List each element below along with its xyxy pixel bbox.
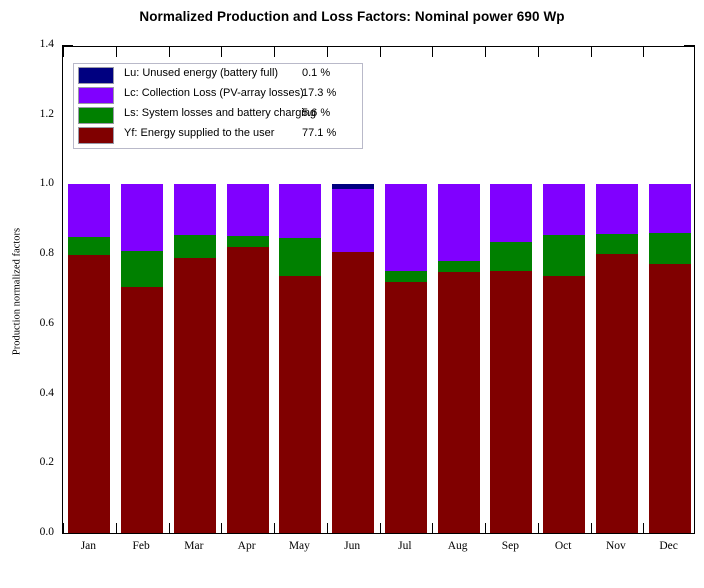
x-tick-top	[116, 47, 117, 57]
x-tick-top	[432, 47, 433, 57]
x-tick	[380, 523, 381, 533]
legend-item[interactable]: Lc: Collection Loss (PV-array losses)17.…	[74, 86, 362, 105]
bar-segment-yf	[332, 252, 374, 533]
bar-segment-ls	[490, 242, 532, 271]
legend-label: Lc: Collection Loss (PV-array losses)	[124, 87, 304, 99]
x-tick-top	[591, 47, 592, 57]
legend-percent: 77.1 %	[302, 127, 336, 139]
y-tick-label: 0.8	[14, 247, 54, 259]
bar-segment-ls	[68, 237, 110, 255]
legend-swatch	[78, 67, 114, 84]
x-tick-top	[327, 47, 328, 57]
x-tick	[591, 523, 592, 533]
bar-segment-yf	[543, 276, 585, 533]
legend-swatch	[78, 127, 114, 144]
bar-jul[interactable]	[385, 45, 427, 533]
y-tick-label: 1.0	[14, 177, 54, 189]
bar-segment-lc	[385, 184, 427, 271]
y-tick-label: 0.6	[14, 317, 54, 329]
bar-aug[interactable]	[438, 45, 480, 533]
bar-segment-lc	[490, 184, 532, 241]
bar-segment-yf	[438, 272, 480, 533]
x-tick	[169, 523, 170, 533]
legend-label: Yf: Energy supplied to the user	[124, 127, 274, 139]
bar-segment-yf	[227, 247, 269, 533]
bar-nov[interactable]	[596, 45, 638, 533]
bar-segment-yf	[649, 264, 691, 533]
x-tick	[432, 523, 433, 533]
y-tick-label: 0.2	[14, 456, 54, 468]
legend-percent: 0.1 %	[302, 67, 330, 79]
bar-segment-lc	[174, 184, 216, 235]
bar-segment-lc	[438, 184, 480, 261]
chart-root: Normalized Production and Loss Factors: …	[0, 0, 704, 588]
legend-item[interactable]: Yf: Energy supplied to the user77.1 %	[74, 126, 362, 145]
bar-segment-ls	[279, 238, 321, 276]
x-tick-label-dec: Dec	[634, 540, 704, 552]
bar-segment-yf	[385, 282, 427, 533]
bar-segment-yf	[279, 276, 321, 533]
legend-swatch	[78, 87, 114, 104]
bar-segment-ls	[227, 236, 269, 248]
legend-item[interactable]: Ls: System losses and battery charging5.…	[74, 106, 362, 125]
x-tick	[643, 523, 644, 533]
x-tick	[221, 523, 222, 533]
x-tick	[274, 523, 275, 533]
bar-segment-ls	[438, 261, 480, 272]
y-tick-label: 0.4	[14, 387, 54, 399]
bar-segment-ls	[121, 251, 163, 288]
bar-segment-yf	[596, 254, 638, 533]
x-tick	[63, 523, 64, 533]
x-tick-top	[221, 47, 222, 57]
bar-segment-lc	[332, 189, 374, 252]
x-tick-top	[485, 47, 486, 57]
y-tick-label: 1.2	[14, 108, 54, 120]
x-tick	[327, 523, 328, 533]
x-tick-top	[538, 47, 539, 57]
y-tick-label: 1.4	[14, 38, 54, 50]
x-tick	[538, 523, 539, 533]
bar-segment-ls	[543, 235, 585, 276]
legend-percent: 17.3 %	[302, 87, 336, 99]
bar-segment-lc	[227, 184, 269, 235]
x-tick-top	[169, 47, 170, 57]
bar-segment-yf	[490, 271, 532, 533]
bar-segment-lc	[649, 184, 691, 233]
bar-segment-ls	[649, 233, 691, 264]
legend-percent: 5.6 %	[302, 107, 330, 119]
bar-segment-yf	[174, 258, 216, 533]
legend-label: Lu: Unused energy (battery full)	[124, 67, 278, 79]
bar-segment-lc	[279, 184, 321, 238]
bar-segment-lc	[121, 184, 163, 250]
bar-sep[interactable]	[490, 45, 532, 533]
legend-item[interactable]: Lu: Unused energy (battery full)0.1 %	[74, 66, 362, 85]
bar-segment-lc	[543, 184, 585, 234]
y-tick-label: 0.0	[14, 526, 54, 538]
x-tick-top	[380, 47, 381, 57]
x-tick	[485, 523, 486, 533]
bar-segment-yf	[121, 287, 163, 533]
legend-label: Ls: System losses and battery charging	[124, 107, 316, 119]
bar-segment-ls	[596, 234, 638, 254]
chart-legend: Lu: Unused energy (battery full)0.1 %Lc:…	[73, 63, 363, 149]
bar-segment-yf	[68, 255, 110, 533]
x-tick-top	[63, 47, 64, 57]
plot-frame: Lu: Unused energy (battery full)0.1 %Lc:…	[62, 46, 695, 534]
bar-segment-lc	[596, 184, 638, 233]
x-tick-top	[643, 47, 644, 57]
bar-dec[interactable]	[649, 45, 691, 533]
bar-oct[interactable]	[543, 45, 585, 533]
legend-swatch	[78, 107, 114, 124]
x-tick	[116, 523, 117, 533]
bar-segment-lc	[68, 184, 110, 237]
bar-segment-ls	[385, 271, 427, 282]
bar-segment-lu	[332, 184, 374, 188]
bar-segment-ls	[174, 235, 216, 258]
x-tick-top	[274, 47, 275, 57]
